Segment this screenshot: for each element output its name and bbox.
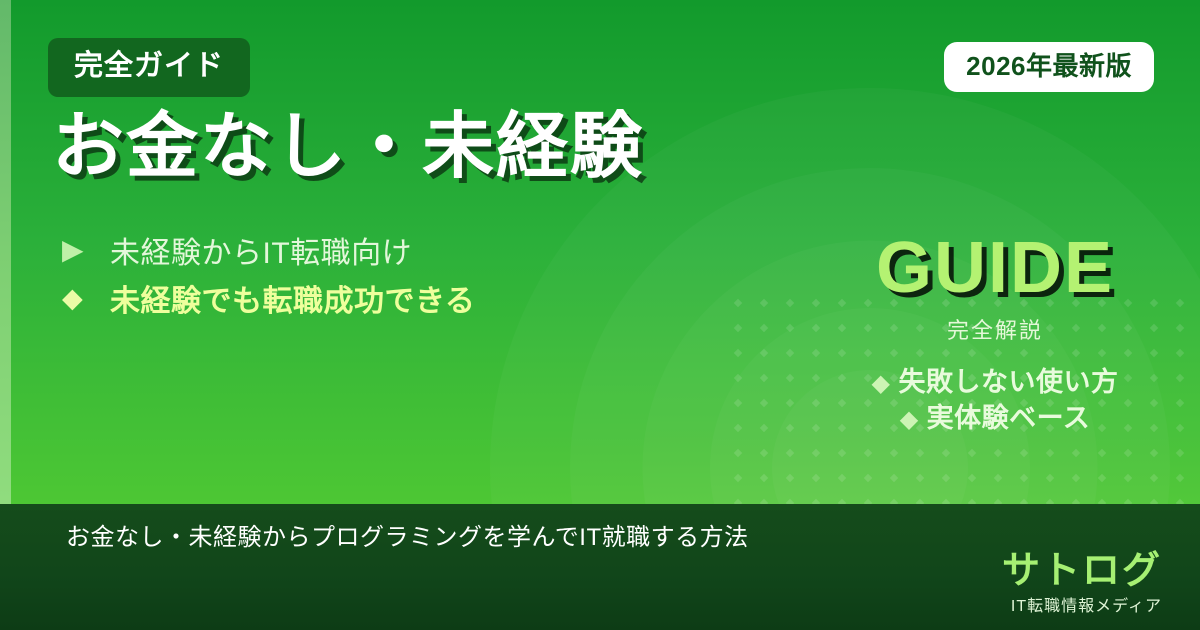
guide-point-list: ◆失敗しない使い方 ◆実体験ベース <box>830 364 1160 437</box>
dot <box>1098 474 1106 482</box>
dot <box>734 374 742 382</box>
dot <box>1046 449 1054 457</box>
dot <box>1124 449 1132 457</box>
dot <box>812 324 820 332</box>
dot <box>1124 474 1132 482</box>
footer-tagline: お金なし・未経験からプログラミングを学んでIT就職する方法 <box>66 526 749 550</box>
dot <box>968 474 976 482</box>
dot <box>994 474 1002 482</box>
dot <box>838 474 846 482</box>
og-image-canvas: 完全ガイド 2026年最新版 お金なし・未経験 ▶ 未経験からIT転職向け ◆ … <box>0 0 1200 630</box>
dot <box>916 474 924 482</box>
page-title: お金なし・未経験 <box>52 108 644 187</box>
dot <box>812 424 820 432</box>
hero-bullet-item: ◆ 未経験でも転職成功できる <box>62 274 475 322</box>
dot <box>760 399 768 407</box>
dot <box>890 449 898 457</box>
guide-wordmark: GUIDE <box>830 232 1160 304</box>
dot <box>734 424 742 432</box>
dot <box>968 449 976 457</box>
dot <box>734 299 742 307</box>
guide-point-label: 失敗しない使い方 <box>898 367 1118 397</box>
dot <box>812 349 820 357</box>
footer-bar: お金なし・未経験からプログラミングを学んでIT就職する方法 サトログ IT転職情… <box>0 504 1200 630</box>
dot <box>786 349 794 357</box>
dot <box>734 474 742 482</box>
dot <box>812 399 820 407</box>
dot <box>786 449 794 457</box>
dot <box>1176 324 1184 332</box>
dot <box>786 299 794 307</box>
dot <box>916 449 924 457</box>
dot <box>734 349 742 357</box>
badge-year-latest: 2026年最新版 <box>944 42 1154 92</box>
dot <box>760 474 768 482</box>
dot <box>1072 474 1080 482</box>
dot <box>942 474 950 482</box>
dot <box>760 449 768 457</box>
hero-bullet-label: 未経験でも転職成功できる <box>110 276 475 320</box>
dot <box>1176 449 1184 457</box>
dot <box>760 324 768 332</box>
dot <box>1150 474 1158 482</box>
brand-name: サトログ <box>1002 552 1162 590</box>
brand-logo: サトログ IT転職情報メディア <box>1002 552 1162 615</box>
dot <box>1176 424 1184 432</box>
triangle-right-icon: ▶ <box>62 236 110 264</box>
dot <box>1098 449 1106 457</box>
left-accent-bar <box>0 0 11 504</box>
dot <box>1150 449 1158 457</box>
dot <box>1176 374 1184 382</box>
dot <box>1176 299 1184 307</box>
dot <box>838 449 846 457</box>
hero-bullet-label: 未経験からIT転職向け <box>110 228 412 272</box>
dot <box>786 424 794 432</box>
diamond-icon: ◆ <box>62 285 110 312</box>
dot <box>812 474 820 482</box>
dot <box>864 474 872 482</box>
hero-bullet-list: ▶ 未経験からIT転職向け ◆ 未経験でも転職成功できる <box>62 226 475 322</box>
dot <box>994 449 1002 457</box>
dot <box>812 449 820 457</box>
guide-panel: GUIDE 完全解説 ◆失敗しない使い方 ◆実体験ベース <box>830 232 1160 437</box>
dot <box>812 299 820 307</box>
brand-subtitle: IT転職情報メディア <box>1002 599 1162 615</box>
dot <box>734 324 742 332</box>
dot <box>812 374 820 382</box>
dot <box>786 324 794 332</box>
dot <box>760 299 768 307</box>
hero-section: 完全ガイド 2026年最新版 お金なし・未経験 ▶ 未経験からIT転職向け ◆ … <box>0 0 1200 504</box>
guide-point-item: ◆失敗しない使い方 <box>830 364 1160 400</box>
dot <box>786 374 794 382</box>
dot <box>1072 449 1080 457</box>
diamond-icon: ◆ <box>900 406 919 433</box>
dot <box>760 349 768 357</box>
dot <box>942 449 950 457</box>
badge-complete-guide: 完全ガイド <box>48 38 250 97</box>
dot <box>734 399 742 407</box>
diamond-icon: ◆ <box>872 370 891 397</box>
dot <box>786 399 794 407</box>
guide-subtitle: 完全解説 <box>830 320 1160 342</box>
guide-point-label: 実体験ベース <box>927 403 1091 433</box>
dot <box>734 449 742 457</box>
dot <box>890 474 898 482</box>
dot <box>864 449 872 457</box>
hero-bullet-item: ▶ 未経験からIT転職向け <box>62 226 475 274</box>
guide-point-item: ◆実体験ベース <box>830 400 1160 436</box>
dot <box>1020 449 1028 457</box>
dot <box>760 424 768 432</box>
dot <box>1176 349 1184 357</box>
dot <box>1046 474 1054 482</box>
dot <box>1176 474 1184 482</box>
dot <box>786 474 794 482</box>
dot <box>1020 474 1028 482</box>
dot <box>760 374 768 382</box>
dot <box>1176 399 1184 407</box>
